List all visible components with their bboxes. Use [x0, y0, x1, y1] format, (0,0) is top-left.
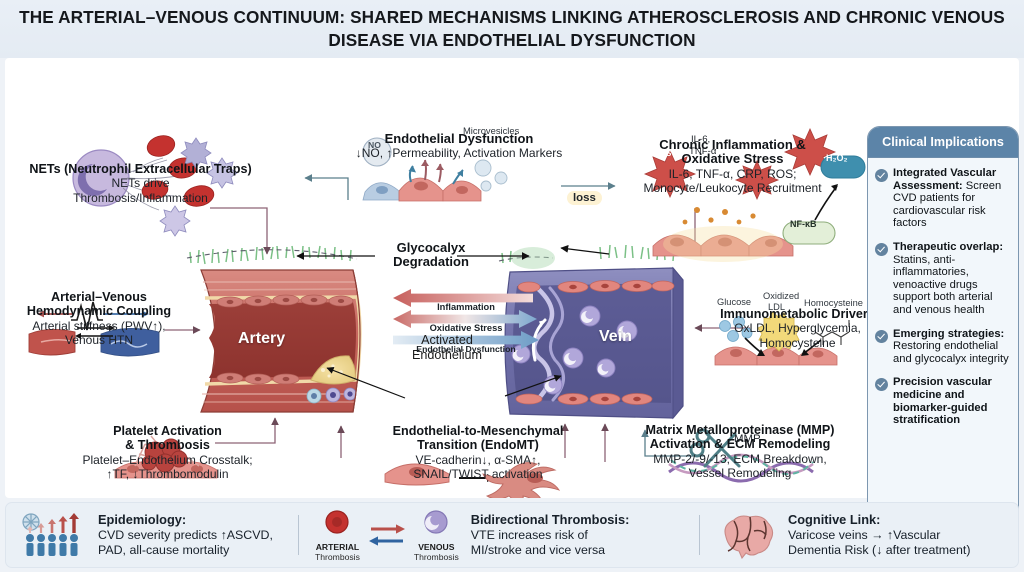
glycocalyx-degradation-label: Glycocalyx Degradation [383, 241, 479, 270]
check-circle-icon [875, 169, 888, 182]
footer-thrombosis-bold: Bidirectional Thrombosis: [471, 512, 630, 527]
footer-cognitive: Cognitive Link: Varicose veins → ↑Vascul… [700, 503, 1018, 567]
block-endothelial-dysfunction: Endothelial Dysfunction ↓NO, ↑Permeabili… [333, 132, 585, 161]
venous-label-top: VENOUS [414, 542, 459, 552]
population-rising-risk-icon [20, 512, 88, 558]
exchange-arrow-oxidative-stress: Oxidative Stress [393, 319, 539, 336]
vein-label: Vein [599, 328, 632, 346]
clinical-implications-panel: Clinical Implications Integrated Vascula… [867, 126, 1019, 544]
glucose-callout: Glucose [717, 297, 751, 307]
brain-icon [716, 511, 778, 559]
clinical-implications-list: Integrated Vascular Assessment: Screen C… [868, 158, 1018, 444]
footer-epidemiology: Epidemiology: CVD severity predicts ↑ASC… [6, 503, 298, 567]
check-circle-icon [875, 330, 888, 343]
leukocyte-icon [422, 509, 450, 537]
footer-thrombosis-line1: VTE increases risk of [471, 528, 588, 542]
diagram-canvas: Artery Vein Glycocalyx Degradation loss … [5, 58, 1019, 498]
clinical-implication-item-1: Integrated Vascular Assessment: Screen C… [875, 167, 1010, 230]
exchange-arrows: Inflammation Oxidative Stress Endothelia… [393, 298, 539, 366]
block-nets: NETs (Neutrophil Extracellular Traps) NE… [23, 162, 258, 205]
arterial-label-bottom: Thrombosis [315, 552, 360, 562]
block-hemodynamic: Arterial–Venous Hemodynamic Coupling Art… [9, 290, 189, 347]
footer-thrombosis-text: Bidirectional Thrombosis: VTE increases … [471, 512, 630, 559]
footer-cognitive-line1: Varicose veins → ↑Vascular [788, 528, 940, 542]
artery-label: Artery [238, 330, 285, 348]
artery-illustration [187, 246, 360, 412]
infographic-root: THE ARTERIAL–VENOUS CONTINUUM: SHARED ME… [0, 0, 1024, 572]
ci-item-3-bold: Emerging strategies: [893, 328, 1004, 340]
nfkb-callout: NF-κB [790, 219, 817, 229]
footer-epidemiology-line2: PAD, all-cause mortality [98, 543, 229, 557]
check-circle-icon [875, 243, 888, 256]
ci-item-2-bold: Therapeutic overlap: [893, 241, 1003, 253]
red-blood-cell-icon [323, 509, 351, 537]
bidirectional-arrows-icon [365, 518, 409, 552]
block-mmp: Matrix Metalloproteinase (MMP) Activatio… [615, 423, 865, 480]
footer-epidemiology-line1: CVD severity predicts ↑ASCVD, [98, 528, 273, 542]
title-bar: THE ARTERIAL–VENOUS CONTINUUM: SHARED ME… [0, 0, 1024, 58]
footer-bar: Epidemiology: CVD severity predicts ↑ASC… [5, 502, 1019, 568]
exchange-arrow-endothelial-dysfunction: Endothelial Dysfunction [393, 340, 539, 357]
block-endomt: Endothelial-to-Mesenchymal Transition (E… [353, 424, 603, 481]
clinical-implication-item-4: Precision vascular medicine and biomarke… [875, 376, 1010, 426]
block-chronic-inflammation: Chronic Inflammation & Oxidative Stress … [625, 138, 840, 195]
block-platelet: Platelet Activation & Thrombosis Platele… [50, 424, 285, 481]
clinical-implication-item-2: Therapeutic overlap: Statins, anti-infla… [875, 241, 1010, 317]
page-title: THE ARTERIAL–VENOUS CONTINUUM: SHARED ME… [18, 6, 1006, 52]
footer-epidemiology-text: Epidemiology: CVD severity predicts ↑ASC… [98, 512, 273, 559]
ros-callout-3: ROS [785, 127, 801, 136]
block-immunometabolic: Immunometabolic Drivers OxLDL, Hyperglyc… [705, 307, 890, 350]
check-circle-icon [875, 378, 888, 391]
venous-thrombosis-icon-group: VENOUS Thrombosis [414, 509, 459, 562]
oxidized-callout: Oxidized [763, 291, 799, 301]
clinical-implications-title: Clinical Implications [868, 127, 1018, 158]
venous-label-bottom: Thrombosis [414, 552, 459, 562]
clinical-implication-item-3: Emerging strategies: Restoring endotheli… [875, 328, 1010, 366]
ci-item-3-rest: Restoring endothelial and glycocalyx int… [893, 340, 1009, 365]
ci-item-2-rest: Statins, anti-inflammatories, venoactive… [893, 254, 993, 316]
footer-cognitive-bold: Cognitive Link: [788, 512, 880, 527]
arterial-thrombosis-icon-group: ARTERIAL Thrombosis [315, 509, 360, 562]
footer-cognitive-text: Cognitive Link: Varicose veins → ↑Vascul… [788, 512, 970, 559]
footer-thrombosis-line2: MI/stroke and vice versa [471, 543, 605, 557]
ci-item-4-bold: Precision vascular medicine and biomarke… [893, 376, 992, 426]
glycocalyx-loss-label: loss [567, 191, 602, 205]
footer-thrombosis: ARTERIAL Thrombosis VENOUS Thrombosis Bi… [299, 503, 699, 567]
exchange-arrow-inflammation: Inflammation [393, 298, 539, 315]
footer-epidemiology-bold: Epidemiology: [98, 512, 186, 527]
glycocalyx-loss-pointer [561, 248, 609, 254]
footer-cognitive-line2: Dementia Risk (↓ after treatment) [788, 543, 970, 557]
arterial-label-top: ARTERIAL [315, 542, 360, 552]
